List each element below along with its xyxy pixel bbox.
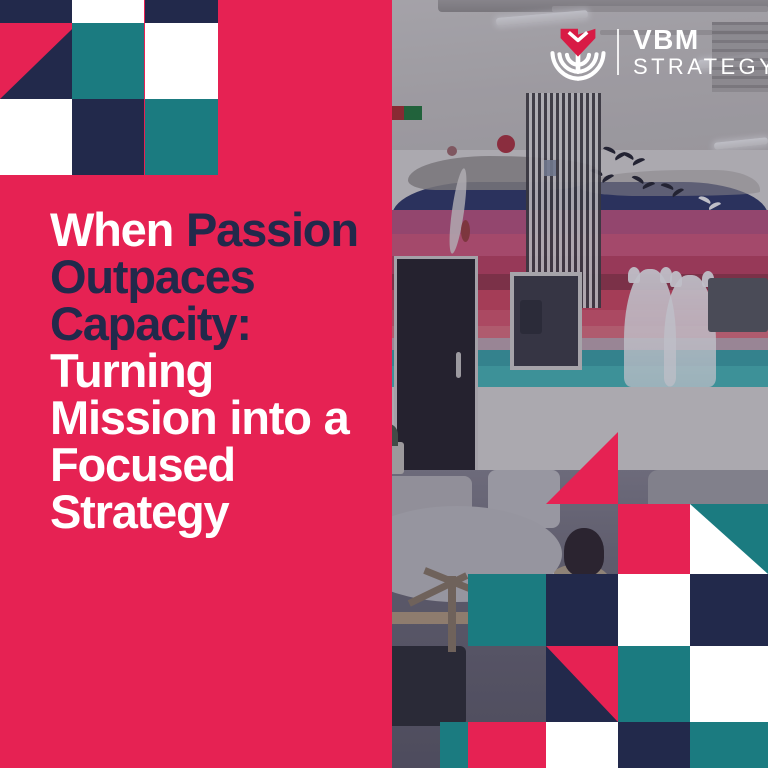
title-word-capacity: Capacity: [50, 297, 251, 350]
mosaic-cell [145, 23, 218, 99]
mosaic-cell [690, 646, 768, 722]
mosaic-cell [145, 99, 218, 175]
vbm-shield-radar-icon [549, 23, 607, 81]
mosaic-cell [440, 722, 468, 768]
mosaic-cell [468, 574, 546, 646]
mosaic-cell [690, 574, 768, 646]
mosaic-cell [546, 646, 618, 722]
mosaic-cell [0, 0, 72, 23]
mosaic-cell [618, 574, 690, 646]
title-word-passion: Passion [186, 203, 358, 256]
mosaic-cell [618, 722, 690, 768]
mosaic-cell [0, 23, 72, 99]
mosaic-cell [468, 722, 546, 768]
title-line-mission: Mission into a [50, 391, 349, 444]
mosaic-triangle [0, 23, 72, 99]
mosaic-cell [0, 99, 72, 175]
mosaic-cell [72, 99, 144, 175]
page-title: When PassionOutpacesCapacity:TurningMiss… [50, 206, 390, 535]
mosaic-triangle [546, 646, 618, 722]
mosaic-triangle [690, 504, 768, 574]
mosaic-top-left [0, 0, 218, 175]
title-word-strategy: Strategy [50, 485, 228, 538]
logo-strategy-text: STRATEGY [633, 55, 768, 79]
social-card: When PassionOutpacesCapacity:TurningMiss… [0, 0, 768, 768]
vbm-strategy-logo[interactable]: VBM STRATEGY [549, 18, 754, 86]
title-word-turning: Turning [50, 344, 213, 397]
mosaic-cell [72, 23, 144, 99]
mosaic-cell [145, 0, 218, 23]
mosaic-cell [618, 646, 690, 722]
mosaic-cell [546, 722, 618, 768]
logo-vbm-text: VBM [633, 25, 768, 54]
logo-wordmark: VBM STRATEGY [633, 25, 768, 79]
title-word-when: When [50, 203, 186, 256]
mosaic-cell [618, 504, 690, 574]
mosaic-cell [546, 432, 618, 504]
mosaic-cell [690, 504, 768, 574]
mosaic-triangle [546, 432, 618, 504]
title-word-outpaces: Outpaces [50, 250, 255, 303]
mosaic-cell [546, 574, 618, 646]
mosaic-cell [690, 722, 768, 768]
mosaic-cell [72, 0, 144, 23]
mosaic-bottom-right [440, 432, 768, 768]
title-word-focused: Focused [50, 438, 235, 491]
logo-divider [617, 29, 619, 75]
